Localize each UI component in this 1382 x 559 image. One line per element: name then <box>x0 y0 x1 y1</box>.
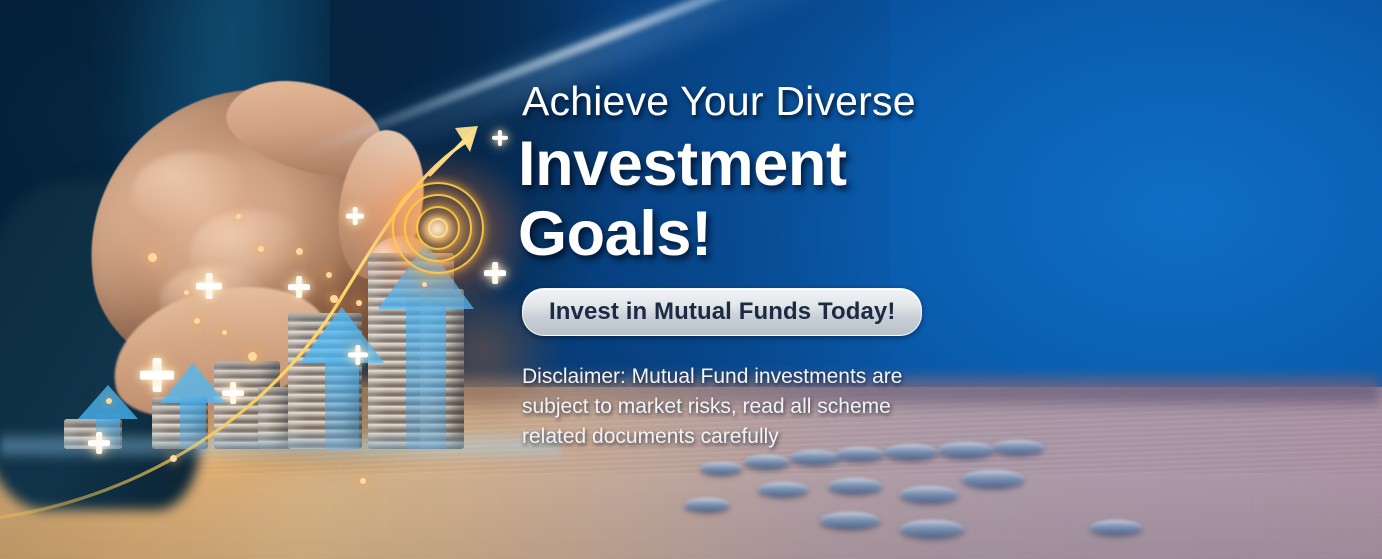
glow-dot <box>194 318 200 324</box>
glow-dot <box>148 253 157 262</box>
glow-dot <box>258 246 264 252</box>
glow-dot <box>422 282 427 287</box>
glow-dot <box>360 478 366 484</box>
glow-dot <box>330 295 338 303</box>
investment-promo-banner: Achieve Your Diverse Investment Goals! I… <box>0 0 1382 559</box>
glow-dot <box>296 248 303 255</box>
glow-dot <box>184 290 189 295</box>
banner-kicker: Achieve Your Diverse <box>522 78 916 125</box>
invest-cta-button[interactable]: Invest in Mutual Funds Today! <box>522 288 922 336</box>
disclaimer-text: Disclaimer: Mutual Fund investments are … <box>522 362 942 452</box>
glow-dot <box>222 330 227 335</box>
banner-content: Achieve Your Diverse Investment Goals! I… <box>522 0 1062 559</box>
glow-dot <box>248 352 257 361</box>
glow-dot <box>106 398 112 404</box>
glow-dot <box>356 300 362 306</box>
banner-headline-line1: Investment <box>518 128 847 200</box>
banner-headline-line2: Goals! <box>518 198 712 270</box>
target-center-flare <box>420 214 454 244</box>
glow-dot <box>236 214 241 219</box>
glow-dot <box>326 272 332 278</box>
glow-dot <box>170 455 177 462</box>
